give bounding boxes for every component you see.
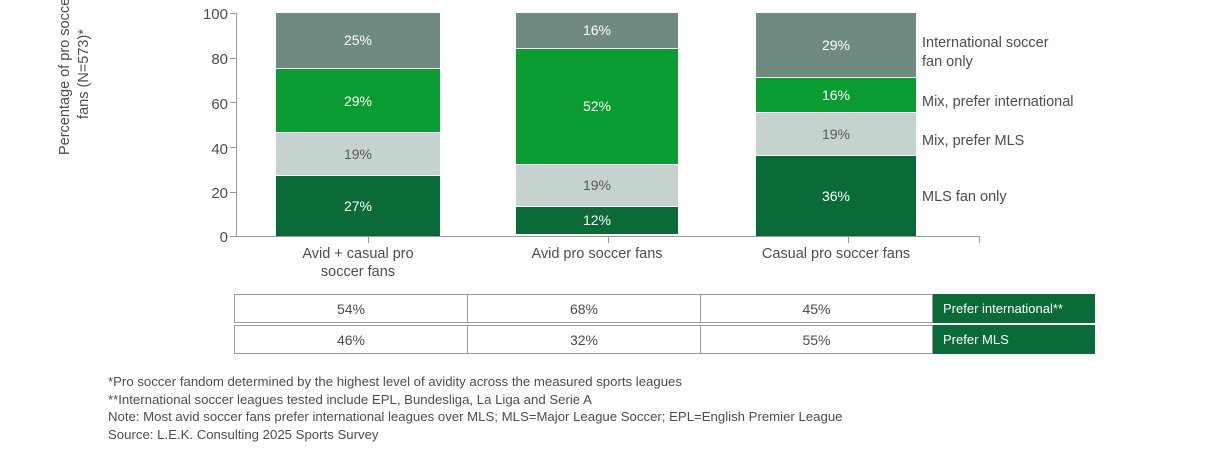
footnote-source: Source: L.E.K. Consulting 2025 Sports Su… [108, 426, 843, 444]
bar-segment-mls-only: 27% [276, 176, 440, 236]
y-tick-mark-80 [230, 58, 236, 59]
y-tick-label-100: 100 [188, 6, 228, 23]
table-cell-value: 32% [467, 325, 701, 354]
y-tick-mark-0 [230, 236, 236, 237]
x-category-label-avid: Avid pro soccer fans [507, 245, 687, 263]
legend-item-mix-prefer-international: Mix, prefer international [922, 93, 1222, 112]
footnote-leagues: **International soccer leagues tested in… [108, 391, 843, 409]
x-tick-mark-2 [608, 237, 609, 243]
y-axis-title: Percentage of pro soccer fans (N=573)* [56, 0, 94, 189]
stacked-bar-chart: Percentage of pro soccer fans (N=573)* 1… [0, 0, 1224, 285]
footnote-note: Note: Most avid soccer fans prefer inter… [108, 408, 843, 426]
bar-segment-mls-only: 36% [756, 156, 916, 236]
segment-value-label: 19% [344, 146, 372, 162]
segment-value-label: 29% [344, 93, 372, 109]
bar-segment-international-only: 25% [276, 13, 440, 69]
bar-segment-mix-prefer-international: 16% [756, 78, 916, 114]
y-tick-mark-40 [230, 147, 236, 148]
summary-table: 54% 68% 45% Prefer international** 46% 3… [234, 294, 1097, 356]
bar-avid-plus-casual: 25% 29% 19% 27% [276, 13, 440, 236]
y-tick-label-20: 20 [188, 185, 228, 202]
x-tick-mark-1 [368, 237, 369, 243]
y-tick-mark-20 [230, 192, 236, 193]
legend-item-mix-prefer-mls: Mix, prefer MLS [922, 132, 1222, 151]
bar-segment-international-only: 29% [756, 13, 916, 78]
y-tick-label-80: 80 [188, 51, 228, 68]
bar-segment-mls-only: 12% [516, 207, 678, 234]
bar-segment-mix-prefer-mls: 19% [276, 133, 440, 175]
x-tick-mark-end [979, 237, 980, 243]
x-category-label-casual: Casual pro soccer fans [746, 245, 926, 263]
segment-value-label: 12% [583, 212, 611, 228]
y-tick-label-40: 40 [188, 141, 228, 158]
table-row-label-prefer-mls: Prefer MLS [933, 325, 1095, 354]
segment-value-label: 52% [583, 98, 611, 114]
table-row: 54% 68% 45% Prefer international** [234, 294, 1097, 323]
table-cell-value: 68% [467, 294, 701, 323]
y-tick-mark-60 [230, 102, 236, 103]
segment-value-label: 16% [822, 87, 850, 103]
segment-value-label: 19% [822, 126, 850, 142]
legend-item-mls-only: MLS fan only [922, 188, 1222, 207]
table-cell-value: 46% [234, 325, 468, 354]
bar-segment-mix-prefer-international: 29% [276, 69, 440, 134]
segment-value-label: 29% [822, 37, 850, 53]
x-tick-mark-3 [848, 237, 849, 243]
bar-casual: 29% 16% 19% 36% [756, 13, 916, 236]
bar-segment-mix-prefer-mls: 19% [516, 165, 678, 207]
bar-segment-mix-prefer-mls: 19% [756, 113, 916, 155]
segment-value-label: 27% [344, 198, 372, 214]
table-row-label-prefer-international: Prefer international** [933, 294, 1095, 323]
footnote-avidity: *Pro soccer fandom determined by the hig… [108, 373, 843, 391]
table-cell-value: 55% [700, 325, 933, 354]
segment-value-label: 16% [583, 22, 611, 38]
segment-value-label: 19% [583, 177, 611, 193]
y-axis-line [236, 13, 237, 237]
bar-avid: 16% 52% 19% 12% [516, 13, 678, 236]
segment-value-label: 25% [344, 32, 372, 48]
y-tick-mark-100 [230, 13, 236, 14]
table-cell-value: 45% [700, 294, 933, 323]
y-tick-label-60: 60 [188, 96, 228, 113]
legend-item-international-only: International soccer fan only [922, 34, 1222, 72]
y-tick-label-0: 0 [188, 229, 228, 246]
table-row: 46% 32% 55% Prefer MLS [234, 325, 1097, 354]
bar-segment-international-only: 16% [516, 13, 678, 49]
bar-segment-mix-prefer-international: 52% [516, 49, 678, 165]
segment-value-label: 36% [822, 188, 850, 204]
x-category-label-avid-plus-casual: Avid + casual pro soccer fans [266, 245, 450, 281]
footnotes: *Pro soccer fandom determined by the hig… [108, 373, 843, 443]
table-cell-value: 54% [234, 294, 468, 323]
